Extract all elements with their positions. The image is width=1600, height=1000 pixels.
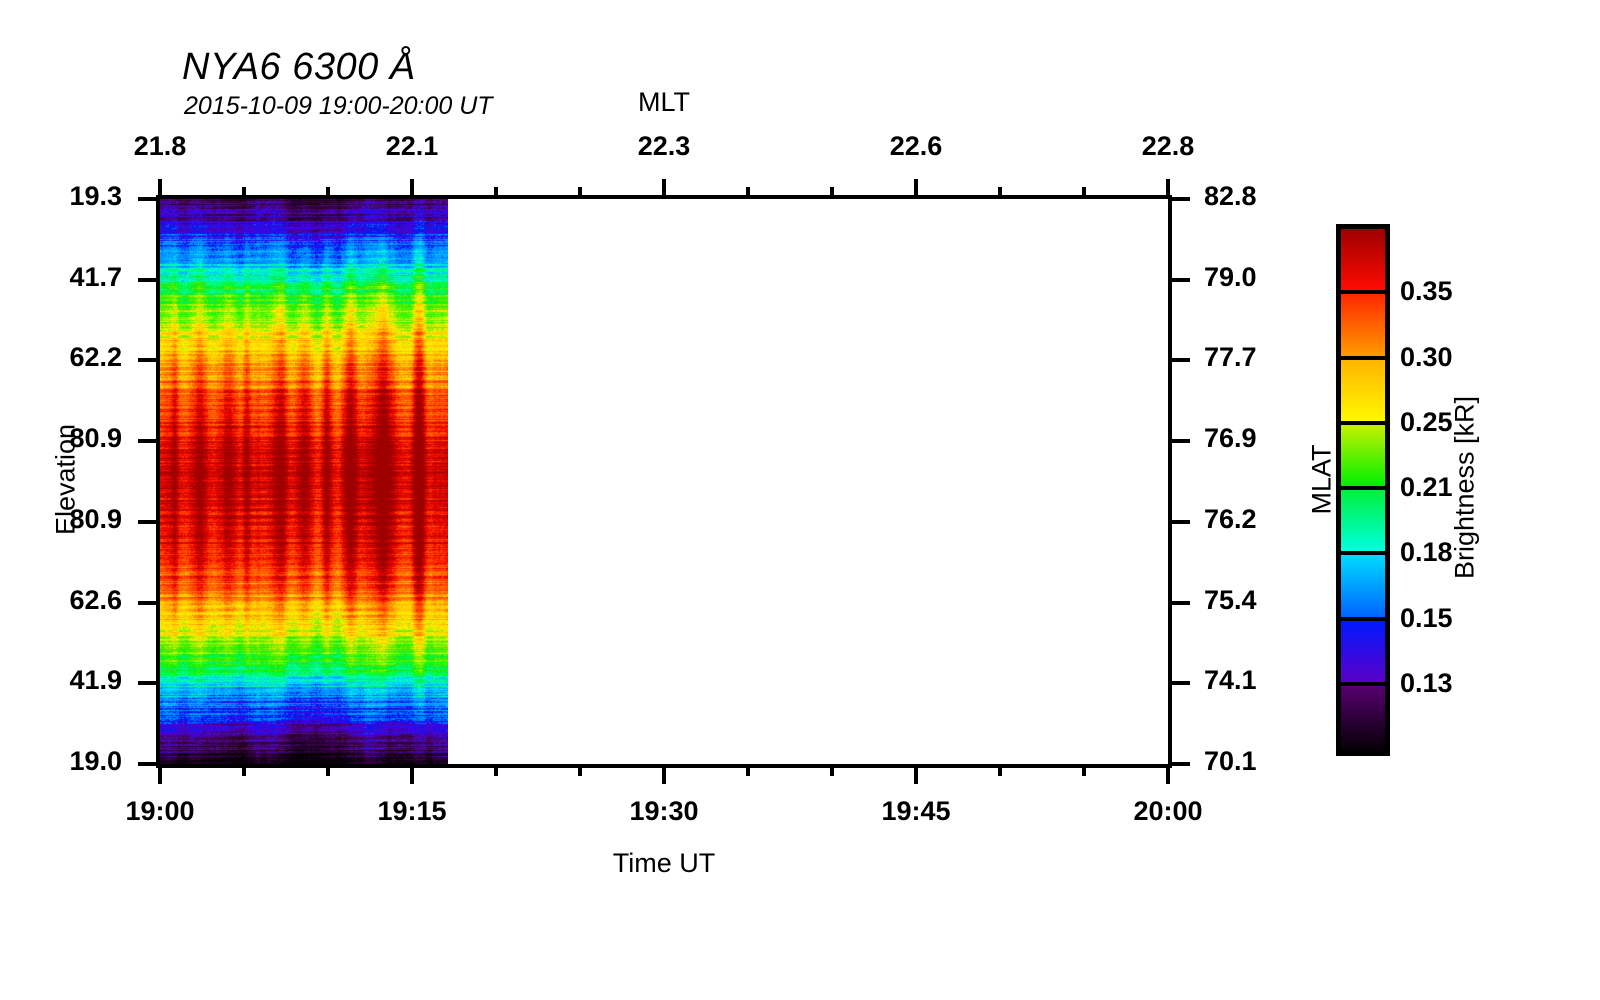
keogram-image xyxy=(160,199,448,764)
time-tick-minor-tick xyxy=(1082,766,1086,776)
mlt-tick-minor-tick xyxy=(746,187,750,197)
elevation-major-tick xyxy=(138,197,158,201)
colorbar-band xyxy=(1341,294,1385,359)
time-tick-minor-tick xyxy=(746,766,750,776)
time-tick-major-tick xyxy=(662,766,666,784)
elevation-tick-label: 41.9 xyxy=(0,665,122,696)
time-tick-minor-tick xyxy=(578,766,582,776)
mlt-tick-minor-tick xyxy=(830,187,834,197)
colorbar-band xyxy=(1341,360,1385,425)
keogram-figure: NYA6 6300 Å 2015-10-09 19:00-20:00 UT 19… xyxy=(0,0,1600,1000)
mlat-major-tick xyxy=(1170,520,1190,524)
mlat-major-tick xyxy=(1170,762,1190,766)
mlat-major-tick xyxy=(1170,601,1190,605)
colorbar-band xyxy=(1341,621,1385,686)
time-tick-label: 19:15 xyxy=(332,796,492,827)
time-tick-minor-tick xyxy=(830,766,834,776)
time-tick-major-tick xyxy=(1166,766,1170,784)
axis-title-mlt: MLT xyxy=(514,87,814,118)
colorbar-band xyxy=(1341,229,1385,294)
mlt-tick-minor-tick xyxy=(998,187,1002,197)
mlt-tick-label: 22.3 xyxy=(584,131,744,162)
colorbar-tick-label: 0.13 xyxy=(1400,668,1453,699)
colorbar-title-brightness: Brightness [kR] xyxy=(1450,348,1481,628)
time-tick-minor-tick xyxy=(998,766,1002,776)
mlt-tick-label: 22.6 xyxy=(836,131,996,162)
time-tick-label: 19:00 xyxy=(80,796,240,827)
mlat-major-tick xyxy=(1170,439,1190,443)
mlt-tick-major-tick xyxy=(662,179,666,197)
elevation-major-tick xyxy=(138,520,158,524)
colorbar-tick-label: 0.30 xyxy=(1400,342,1453,373)
mlt-tick-minor-tick xyxy=(494,187,498,197)
time-tick-label: 19:30 xyxy=(584,796,744,827)
time-tick-major-tick xyxy=(410,766,414,784)
colorbar-band xyxy=(1341,490,1385,555)
colorbar-tick-label: 0.25 xyxy=(1400,407,1453,438)
time-tick-label: 20:00 xyxy=(1088,796,1248,827)
page-title: NYA6 6300 Å xyxy=(182,46,416,89)
elevation-major-tick xyxy=(138,278,158,282)
mlt-tick-major-tick xyxy=(158,179,162,197)
colorbar-tick-label: 0.35 xyxy=(1400,276,1453,307)
colorbar-band xyxy=(1341,686,1385,751)
page-subtitle: 2015-10-09 19:00-20:00 UT xyxy=(184,92,493,121)
elevation-tick-label: 19.0 xyxy=(0,746,122,777)
mlat-major-tick xyxy=(1170,681,1190,685)
elevation-tick-label: 41.7 xyxy=(0,262,122,293)
mlt-tick-minor-tick xyxy=(242,187,246,197)
colorbar-band xyxy=(1341,555,1385,620)
elevation-major-tick xyxy=(138,601,158,605)
time-tick-label: 19:45 xyxy=(836,796,996,827)
mlat-major-tick xyxy=(1170,197,1190,201)
mlat-tick-label: 82.8 xyxy=(1204,181,1404,212)
mlt-tick-label: 22.8 xyxy=(1088,131,1248,162)
elevation-major-tick xyxy=(138,762,158,766)
mlat-major-tick xyxy=(1170,278,1190,282)
mlt-tick-label: 22.1 xyxy=(332,131,492,162)
keogram-data-region xyxy=(160,199,448,764)
mlat-major-tick xyxy=(1170,358,1190,362)
mlt-tick-major-tick xyxy=(1166,179,1170,197)
mlt-tick-minor-tick xyxy=(326,187,330,197)
time-tick-minor-tick xyxy=(326,766,330,776)
elevation-tick-label: 19.3 xyxy=(0,181,122,212)
time-tick-minor-tick xyxy=(494,766,498,776)
mlt-tick-major-tick xyxy=(410,179,414,197)
mlt-tick-minor-tick xyxy=(578,187,582,197)
elevation-major-tick xyxy=(138,681,158,685)
colorbar-tick-label: 0.18 xyxy=(1400,537,1453,568)
axis-title-time: Time UT xyxy=(514,848,814,879)
axis-title-mlat: MLAT xyxy=(1307,389,1338,569)
mlt-tick-minor-tick xyxy=(1082,187,1086,197)
elevation-tick-label: 62.2 xyxy=(0,342,122,373)
time-tick-major-tick xyxy=(914,766,918,784)
mlt-tick-major-tick xyxy=(914,179,918,197)
time-tick-minor-tick xyxy=(242,766,246,776)
elevation-tick-label: 62.6 xyxy=(0,585,122,616)
colorbar-band xyxy=(1341,425,1385,490)
elevation-major-tick xyxy=(138,439,158,443)
colorbar-tick-label: 0.21 xyxy=(1400,472,1453,503)
colorbar xyxy=(1336,224,1390,756)
mlt-tick-label: 21.8 xyxy=(80,131,240,162)
axis-title-elevation: Elevation xyxy=(51,379,82,579)
colorbar-tick-label: 0.15 xyxy=(1400,603,1453,634)
time-tick-major-tick xyxy=(158,766,162,784)
elevation-major-tick xyxy=(138,358,158,362)
